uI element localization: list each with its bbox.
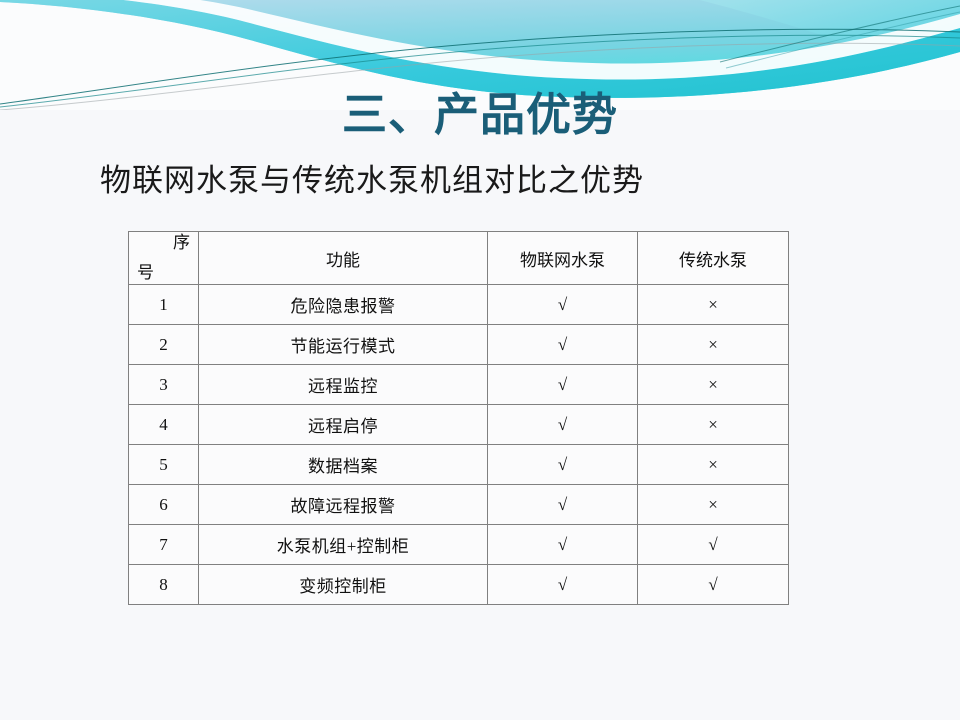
table-row: 6 故障远程报警 √ × <box>129 485 789 525</box>
cell-function: 水泵机组+控制柜 <box>199 525 488 565</box>
cell-iot-mark: √ <box>488 445 638 485</box>
cell-iot-mark: √ <box>488 565 638 605</box>
cell-traditional-mark: √ <box>638 525 789 565</box>
table-row: 8 变频控制柜 √ √ <box>129 565 789 605</box>
cell-index: 6 <box>129 485 199 525</box>
cell-function: 节能运行模式 <box>199 325 488 365</box>
cell-function: 危险隐患报警 <box>199 285 488 325</box>
cell-function: 远程监控 <box>199 365 488 405</box>
cell-index: 1 <box>129 285 199 325</box>
table-header-row: 序 号 功能 物联网水泵 传统水泵 <box>129 232 789 285</box>
cell-index: 4 <box>129 405 199 445</box>
column-header-index: 序 号 <box>129 232 199 285</box>
slide-subtitle: 物联网水泵与传统水泵机组对比之优势 <box>100 162 800 201</box>
cell-iot-mark: √ <box>488 525 638 565</box>
cell-function: 远程启停 <box>199 405 488 445</box>
table-row: 5 数据档案 √ × <box>129 445 789 485</box>
cell-traditional-mark: × <box>638 285 789 325</box>
comparison-table: 序 号 功能 物联网水泵 传统水泵 1 危险隐患报警 √ × 2 节能运行模式 … <box>128 231 789 605</box>
cell-traditional-mark: √ <box>638 565 789 605</box>
cell-iot-mark: √ <box>488 365 638 405</box>
cell-traditional-mark: × <box>638 485 789 525</box>
column-header-iot-pump: 物联网水泵 <box>488 232 638 285</box>
column-header-index-top: 序 <box>173 234 190 251</box>
cell-iot-mark: √ <box>488 405 638 445</box>
cell-index: 8 <box>129 565 199 605</box>
cell-iot-mark: √ <box>488 325 638 365</box>
cell-index: 5 <box>129 445 199 485</box>
table-row: 7 水泵机组+控制柜 √ √ <box>129 525 789 565</box>
cell-iot-mark: √ <box>488 485 638 525</box>
table-row: 3 远程监控 √ × <box>129 365 789 405</box>
cell-function: 变频控制柜 <box>199 565 488 605</box>
column-header-index-bottom: 号 <box>137 264 154 281</box>
cell-traditional-mark: × <box>638 365 789 405</box>
cell-function: 数据档案 <box>199 445 488 485</box>
cell-index: 2 <box>129 325 199 365</box>
column-header-traditional-pump: 传统水泵 <box>638 232 789 285</box>
table-row: 1 危险隐患报警 √ × <box>129 285 789 325</box>
cell-index: 7 <box>129 525 199 565</box>
cell-function: 故障远程报警 <box>199 485 488 525</box>
cell-traditional-mark: × <box>638 325 789 365</box>
table-row: 4 远程启停 √ × <box>129 405 789 445</box>
cell-traditional-mark: × <box>638 445 789 485</box>
cell-traditional-mark: × <box>638 405 789 445</box>
presentation-slide: 三、产品优势 物联网水泵与传统水泵机组对比之优势 序 号 功能 物联网水泵 传统… <box>0 0 960 720</box>
slide-title: 三、产品优势 <box>0 90 960 140</box>
cell-iot-mark: √ <box>488 285 638 325</box>
column-header-function: 功能 <box>199 232 488 285</box>
cell-index: 3 <box>129 365 199 405</box>
table-row: 2 节能运行模式 √ × <box>129 325 789 365</box>
